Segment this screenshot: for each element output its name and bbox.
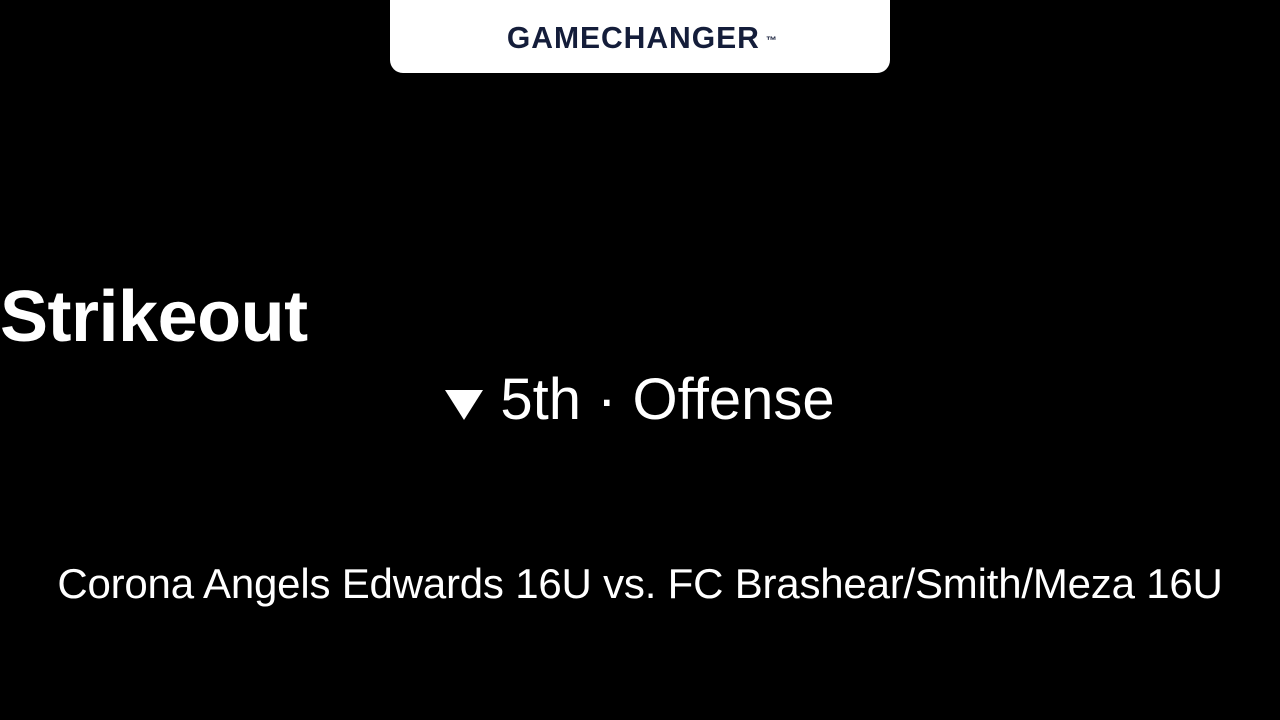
logo-lockup: GAMECHANGER ™ [503, 22, 777, 53]
matchup-label: Corona Angels Edwards 16U vs. FC Brashea… [0, 563, 1280, 605]
play-context-row: 5th · Offense [0, 371, 1280, 429]
triangle-down-icon [445, 390, 483, 420]
inning-side-label: 5th · Offense [500, 371, 834, 429]
gamechanger-logo-card: GAMECHANGER ™ [390, 0, 890, 73]
video-overlay-screen: GAMECHANGER ™ Strikeout 5th · Offense Co… [0, 0, 1280, 720]
play-result-title: Strikeout [0, 281, 1280, 353]
trademark-symbol: ™ [766, 36, 777, 47]
gamechanger-wordmark: GAMECHANGER [507, 22, 760, 53]
